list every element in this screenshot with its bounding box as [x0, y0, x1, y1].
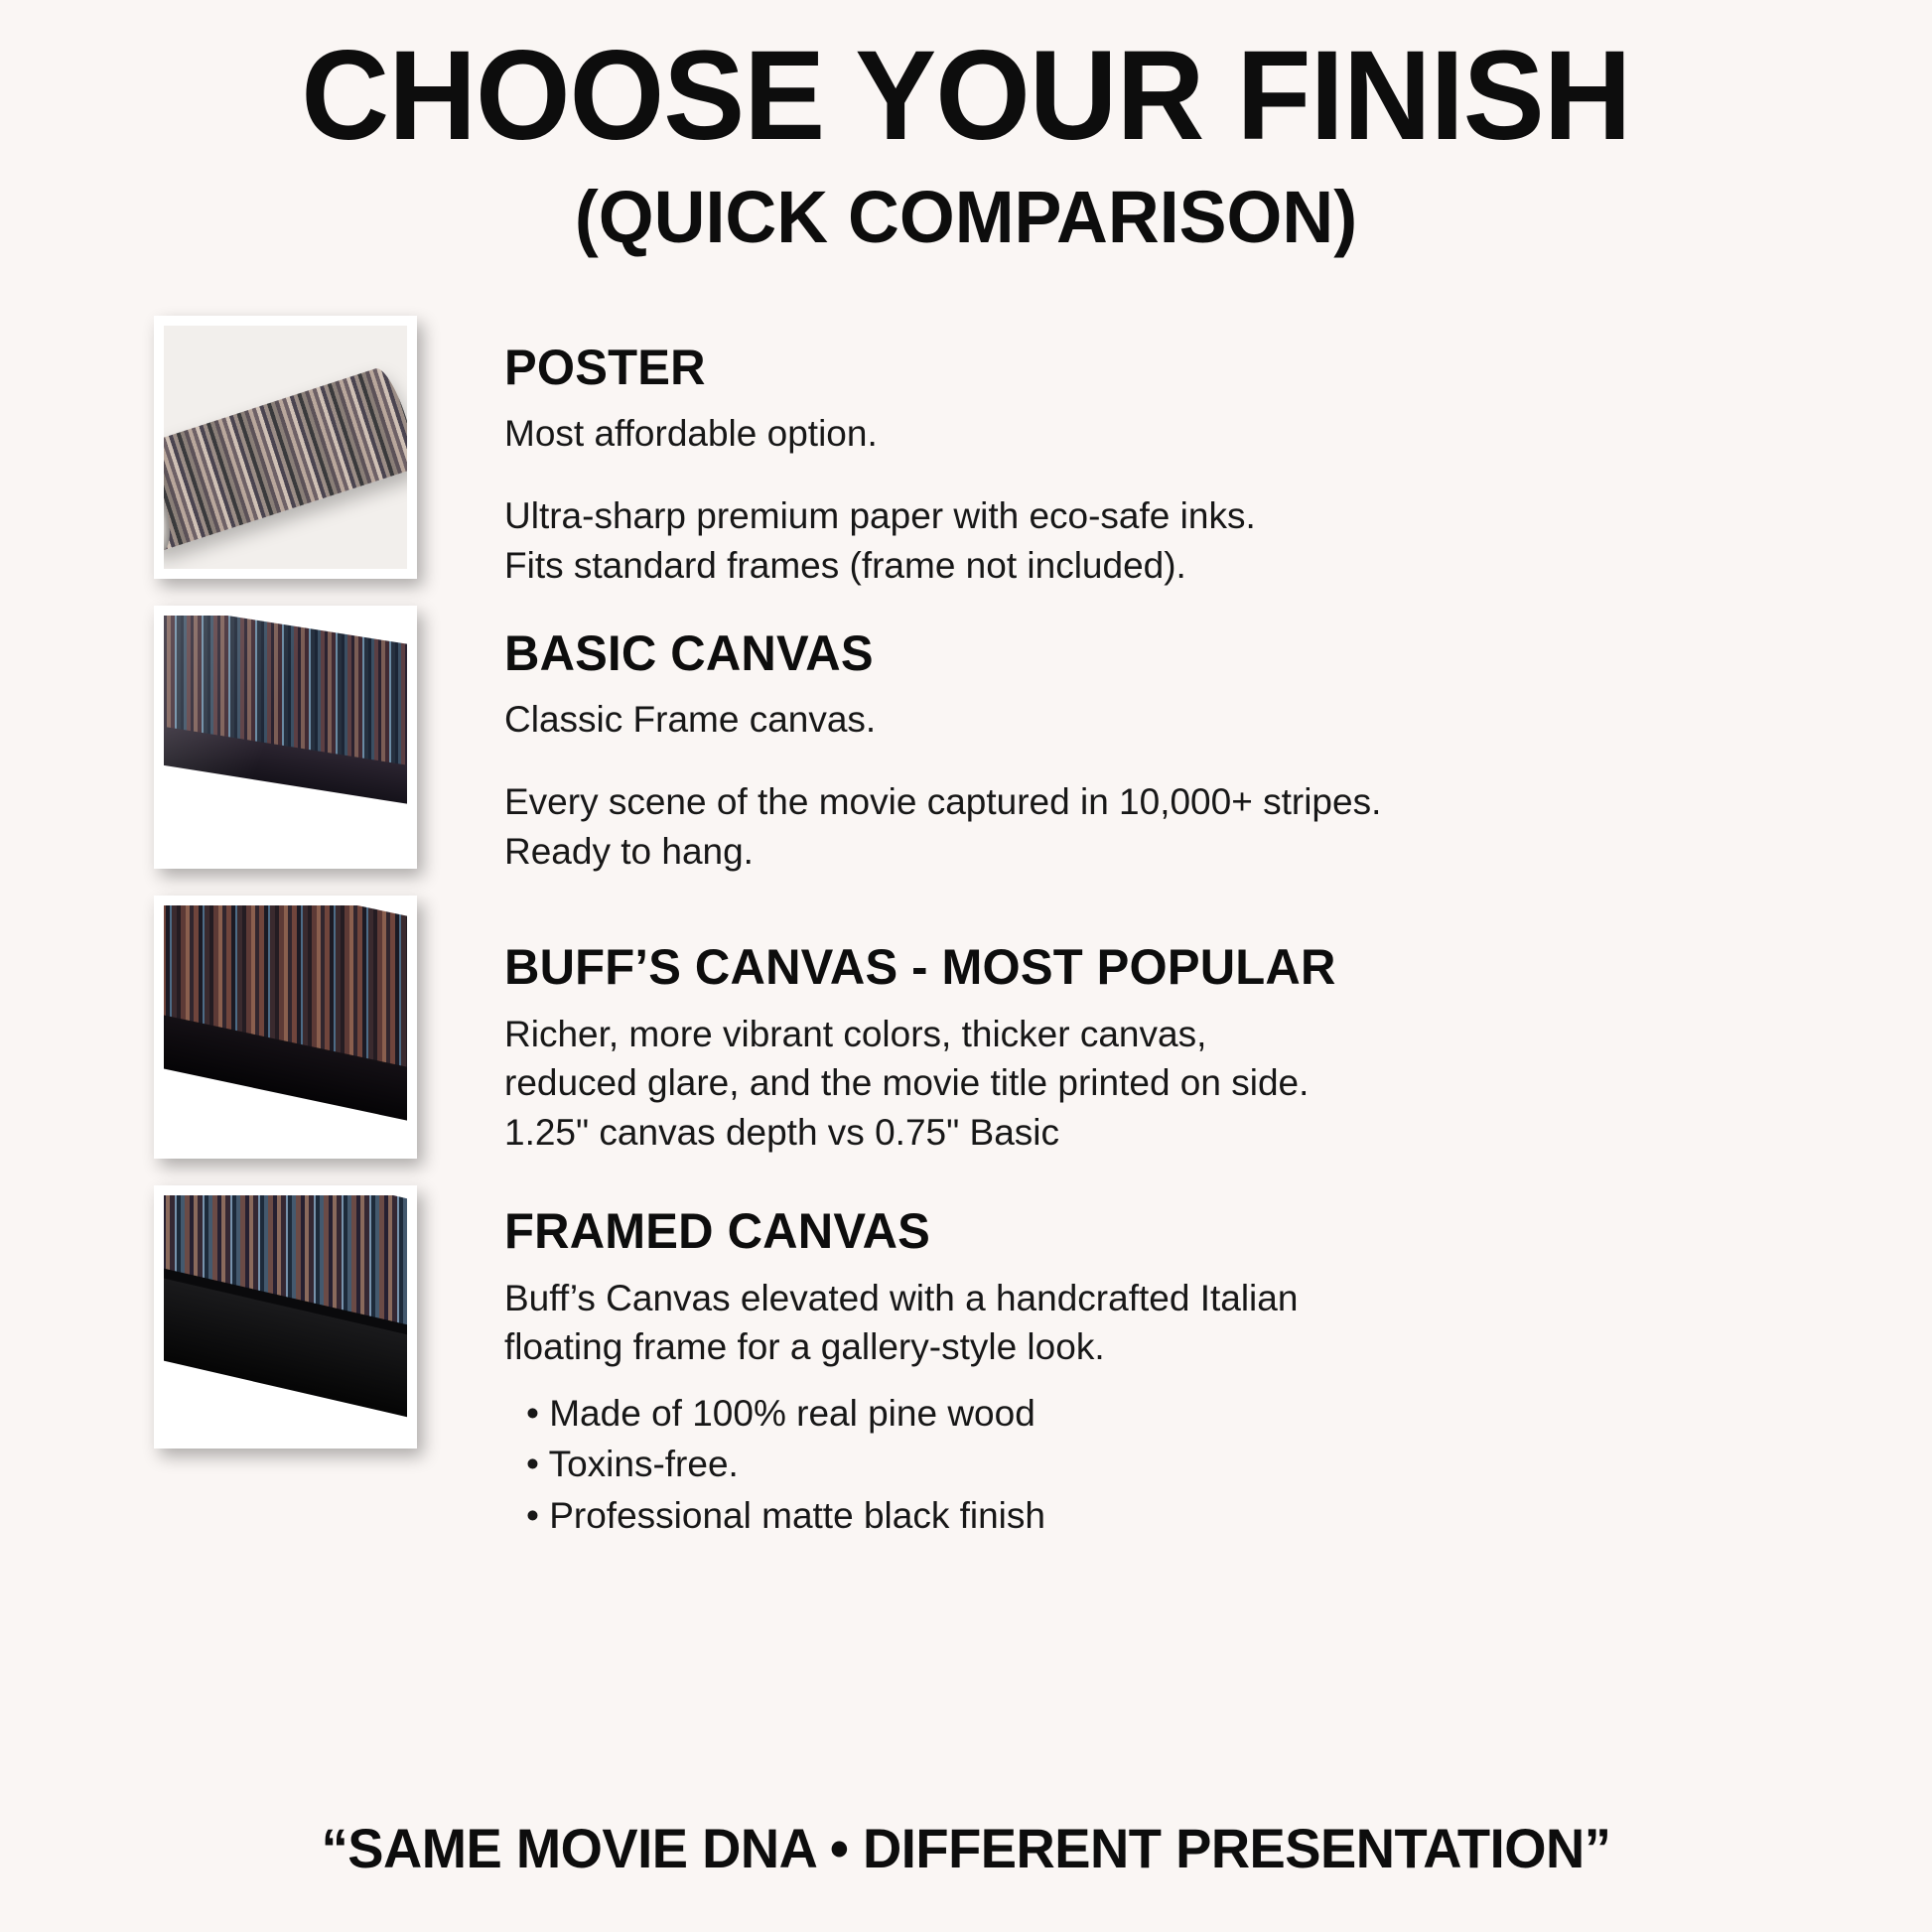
- poster-lead: Most affordable option.: [504, 410, 1932, 459]
- basic-canvas-copy: BASIC CANVAS Classic Frame canvas. Every…: [417, 606, 1932, 876]
- buffs-canvas-image: [164, 905, 407, 1149]
- rolled-poster-image: [164, 326, 407, 569]
- list-item: Made of 100% real pine wood: [526, 1388, 1932, 1440]
- option-row-poster: POSTER Most affordable option. Ultra-sha…: [0, 316, 1932, 606]
- framed-canvas-thumbnail[interactable]: [154, 1185, 417, 1449]
- basic-canvas-title: BASIC CANVAS: [504, 627, 1903, 680]
- list-item: Toxins-free.: [526, 1439, 1932, 1490]
- poster-detail: Ultra-sharp premium paper with eco-safe …: [504, 491, 1932, 590]
- framed-canvas-detail-line-1: Buff’s Canvas elevated with a handcrafte…: [504, 1274, 1932, 1323]
- poster-detail-line-1: Ultra-sharp premium paper with eco-safe …: [504, 491, 1932, 541]
- buffs-canvas-detail-line-3: 1.25" canvas depth vs 0.75" Basic: [504, 1108, 1932, 1158]
- basic-canvas-image: [164, 616, 407, 859]
- buffs-canvas-detail-line-2: reduced glare, and the movie title print…: [504, 1058, 1932, 1108]
- page-subtitle: (QUICK COMPARISON): [29, 177, 1903, 257]
- footer-tagline: “SAME MOVIE DNA • DIFFERENT PRESENTATION…: [29, 1816, 1903, 1880]
- framed-canvas-bullet-list: Made of 100% real pine wood Toxins-free.…: [504, 1388, 1932, 1542]
- framed-canvas-detail-line-2: floating frame for a gallery-style look.: [504, 1322, 1932, 1372]
- options-list: POSTER Most affordable option. Ultra-sha…: [0, 316, 1932, 1475]
- option-row-framed-canvas: FRAMED CANVAS Buff’s Canvas elevated wit…: [0, 1185, 1932, 1475]
- basic-canvas-detail-line-2: Ready to hang.: [504, 827, 1932, 877]
- poster-roll-shape: [164, 363, 407, 554]
- buffs-canvas-detail-line-1: Richer, more vibrant colors, thicker can…: [504, 1010, 1932, 1059]
- basic-canvas-gloss: [164, 616, 407, 859]
- framed-canvas-copy: FRAMED CANVAS Buff’s Canvas elevated wit…: [417, 1185, 1932, 1542]
- basic-canvas-detail-line-1: Every scene of the movie captured in 10,…: [504, 777, 1932, 827]
- basic-canvas-detail: Every scene of the movie captured in 10,…: [504, 777, 1932, 876]
- buffs-canvas-copy: BUFF’S CANVAS - MOST POPULAR Richer, mor…: [417, 896, 1932, 1157]
- option-row-basic-canvas: BASIC CANVAS Classic Frame canvas. Every…: [0, 606, 1932, 896]
- option-row-buffs-canvas: BUFF’S CANVAS - MOST POPULAR Richer, mor…: [0, 896, 1932, 1185]
- page-title: CHOOSE YOUR FINISH: [39, 30, 1893, 163]
- framed-canvas-detail: Buff’s Canvas elevated with a handcrafte…: [504, 1274, 1932, 1372]
- buffs-canvas-detail: Richer, more vibrant colors, thicker can…: [504, 1010, 1932, 1158]
- poster-detail-line-2: Fits standard frames (frame not included…: [504, 541, 1932, 591]
- list-item: Professional matte black finish: [526, 1490, 1932, 1542]
- header: CHOOSE YOUR FINISH (QUICK COMPARISON): [0, 0, 1932, 258]
- buffs-canvas-thumbnail[interactable]: [154, 896, 417, 1159]
- basic-canvas-thumbnail[interactable]: [154, 606, 417, 869]
- buffs-canvas-title: BUFF’S CANVAS - MOST POPULAR: [504, 941, 1903, 994]
- framed-canvas-image: [164, 1195, 407, 1439]
- poster-title: POSTER: [504, 342, 1903, 394]
- infographic-page: CHOOSE YOUR FINISH (QUICK COMPARISON) PO…: [0, 0, 1932, 1932]
- poster-thumbnail[interactable]: [154, 316, 417, 579]
- framed-canvas-title: FRAMED CANVAS: [504, 1205, 1903, 1258]
- poster-copy: POSTER Most affordable option. Ultra-sha…: [417, 316, 1932, 590]
- basic-canvas-lead: Classic Frame canvas.: [504, 696, 1932, 745]
